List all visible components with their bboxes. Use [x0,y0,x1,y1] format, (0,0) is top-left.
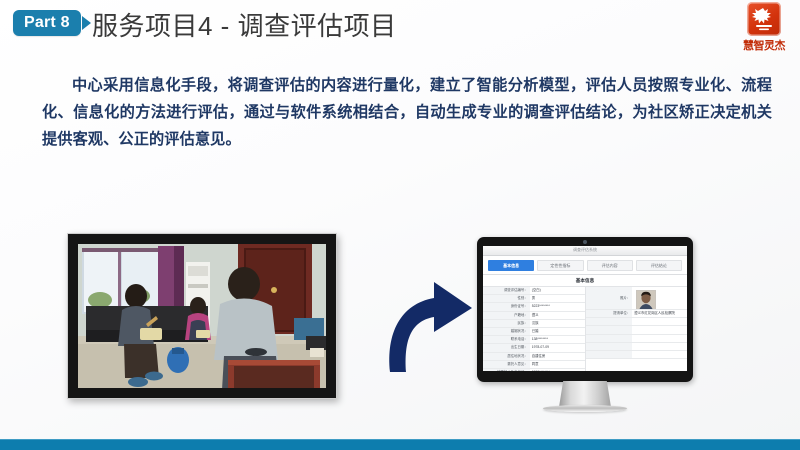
table-row: 居住地状况： 自建住房 [483,353,585,361]
brand-mark-icon [747,2,781,36]
app-titlebar: 调查评估系统 [483,246,687,256]
form-column-left: 调查评估编号： (空白) 性别： 男 身份证号： 5223******** [483,287,585,371]
slide-root: Part 8 服务项目4 - 调查评估项目 慧智灵杰 中心采用信息化手段，将调查… [0,0,800,450]
table-row: 出生日期： 1978-07-09 [483,344,585,352]
row-value: 5223******** [530,369,585,371]
table-row: 提请单位： 遵义市红花岗区人民检察院 [586,310,688,318]
row-label: 调查评估编号： [483,287,530,294]
flow-arrow [374,272,482,376]
row-value: (空白) [530,287,585,294]
row-label: 委托人意见： [483,361,530,368]
table-row: 民族： 汉族 [483,320,585,328]
brand-logo: 慧智灵杰 [736,2,792,53]
row-label: 婚姻状况： [483,328,530,335]
slide-header: Part 8 服务项目4 - 调查评估项目 慧智灵杰 [0,0,800,58]
row-label [586,326,633,333]
row-value [632,351,687,358]
webcam-icon [583,240,587,244]
site-photo-frame [67,233,337,399]
table-row [586,326,688,334]
table-row: 调查评估编号： (空白) [483,287,585,295]
monitor-stand-base [543,405,627,412]
table-row [586,318,688,326]
table-row: 委托人意见： 同意 [483,361,585,369]
row-value [632,335,687,342]
row-label: 户籍地： [483,312,530,319]
row-value: 遵义市红花岗区人民检察院 [632,310,687,317]
table-row-photo: 照片： [586,287,688,310]
row-value: 5223******** [530,303,585,310]
row-value: 遵义 [530,312,585,319]
row-label [586,335,633,342]
form-section-title: 基本信息 [483,275,687,286]
tab-assessment-conclusion[interactable]: 评估结论 [636,260,682,271]
row-label: 民族： [483,320,530,327]
brand-name: 慧智灵杰 [736,37,792,53]
row-label: 提请单位： [586,310,633,317]
monitor-bezel: 调查评估系统 基本信息 定性性指标 评估内容 评估结论 基本信息 调查评估编号：… [477,237,693,382]
app-tab-bar[interactable]: 基本信息 定性性指标 评估内容 评估结论 [483,256,687,275]
row-value: 1978-07-09 [530,344,585,351]
row-value [632,326,687,333]
row-label: 身份证号： [483,303,530,310]
monitor-mockup: 调查评估系统 基本信息 定性性指标 评估内容 评估结论 基本信息 调查评估编号：… [477,237,693,382]
row-value [632,287,687,309]
monitor-stand-neck [559,381,611,407]
table-row: 户籍地： 遵义 [483,312,585,320]
table-row: 被委托人及身份证： 5223******** [483,369,585,371]
footer-accent-bar [0,440,800,450]
row-label [586,351,633,358]
part-badge: Part 8 [13,10,81,36]
table-row: 性别： 男 [483,295,585,303]
tab-qualitative-index[interactable]: 定性性指标 [537,260,583,271]
page-title: 服务项目4 - 调查评估项目 [92,6,397,43]
row-value: 同意 [530,361,585,368]
table-row: 联系电话： 138******** [483,336,585,344]
row-value [632,343,687,350]
id-photo-thumbnail [636,290,656,309]
row-label: 居住地状况： [483,353,530,360]
table-row [586,351,688,359]
row-value: 自建住房 [530,353,585,360]
row-label: 照片： [586,287,633,309]
monitor-screen: 调查评估系统 基本信息 定性性指标 评估内容 评估结论 基本信息 调查评估编号：… [483,246,687,371]
row-label: 出生日期： [483,344,530,351]
basic-info-form: 调查评估编号： (空白) 性别： 男 身份证号： 5223******** [483,286,687,371]
form-column-right: 照片： [585,287,688,371]
row-label [586,318,633,325]
tab-assessment-content[interactable]: 评估内容 [587,260,633,271]
row-label: 被委托人及身份证： [483,369,530,371]
body-paragraph: 中心采用信息化手段，将调查评估的内容进行量化，建立了智能分析模型，评估人员按照专… [42,72,772,153]
tab-basic-info[interactable]: 基本信息 [488,260,534,271]
table-row [586,343,688,351]
part-badge-arrow-icon [82,16,91,30]
row-label: 联系电话： [483,336,530,343]
site-photo [78,244,326,388]
row-label [586,343,633,350]
row-value: 汉族 [530,320,585,327]
table-row [586,335,688,343]
row-label: 性别： [483,295,530,302]
table-row: 婚姻状况： 已婚 [483,328,585,336]
app-titlebar-label: 调查评估系统 [573,247,597,253]
row-value [632,318,687,325]
row-value: 男 [530,295,585,302]
row-value: 已婚 [530,328,585,335]
row-value: 138******** [530,336,585,343]
table-row: 身份证号： 5223******** [483,303,585,311]
